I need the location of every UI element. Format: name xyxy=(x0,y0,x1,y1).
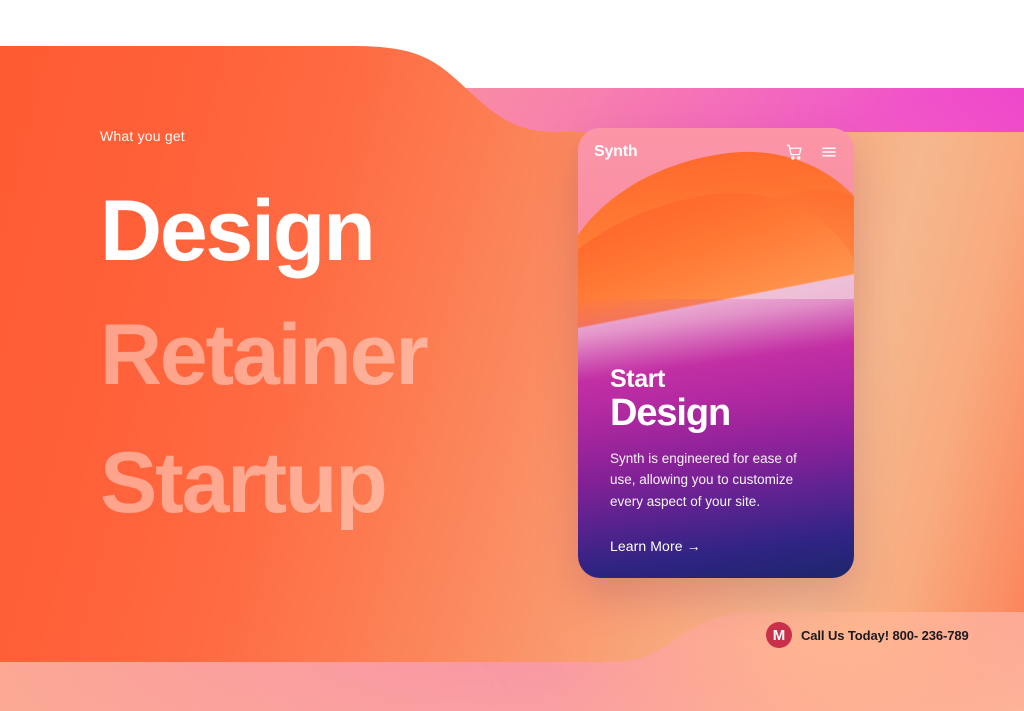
cart-icon[interactable] xyxy=(786,143,804,161)
poster-canvas: What you get Design Retainer Startup Syn… xyxy=(0,0,1024,711)
card-body-text: Synth is engineered for ease of use, all… xyxy=(610,448,825,512)
hero-eyebrow: What you get xyxy=(100,128,185,144)
brand-logo-icon: M xyxy=(766,622,792,648)
phone-topbar: Synth xyxy=(578,128,854,176)
phone-topbar-actions xyxy=(786,143,838,161)
phone-mockup: Synth Sta xyxy=(578,128,854,578)
hamburger-menu-icon[interactable] xyxy=(820,143,838,161)
card-kicker: Start xyxy=(610,366,832,392)
contact-phone-text: Call Us Today! 800- 236-789 xyxy=(801,628,969,643)
phone-logo[interactable]: Synth xyxy=(594,143,637,161)
hero-headline-retainer: Retainer xyxy=(100,312,427,398)
phone-card-content: Start Design Synth is engineered for eas… xyxy=(610,366,832,554)
hero-headline-design: Design xyxy=(100,188,374,274)
learn-more-link[interactable]: Learn More → xyxy=(610,538,832,554)
contact-block[interactable]: M Call Us Today! 800- 236-789 xyxy=(766,622,969,648)
card-title: Design xyxy=(610,394,832,434)
hero-headline-startup: Startup xyxy=(100,440,386,526)
